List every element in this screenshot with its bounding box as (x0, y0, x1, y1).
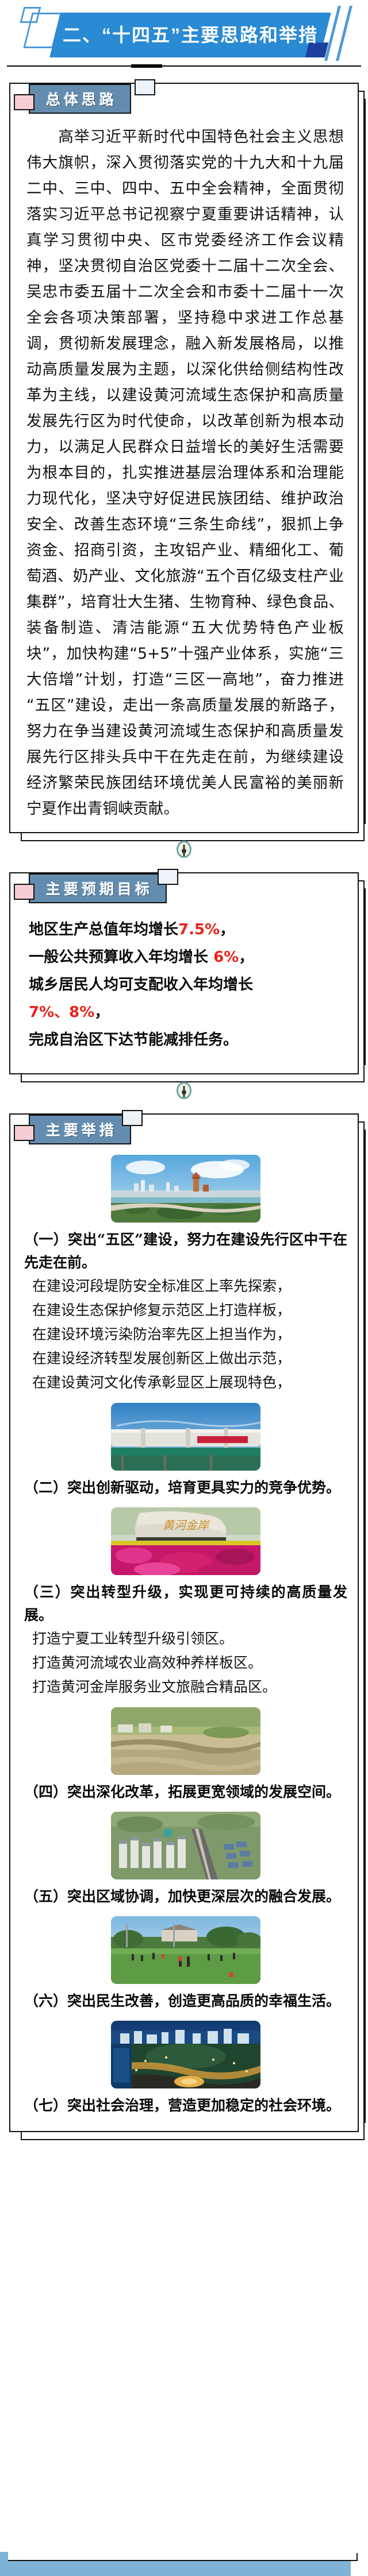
measure-photo-rural-farmland-village (111, 1707, 260, 1775)
measure-sub-line: 在建设经济转型发展创新区上做出示范， (24, 1347, 347, 1371)
target-line: 完成自治区下达节能减排任务。 (29, 1026, 345, 1054)
target-value: 7.5% (178, 921, 220, 938)
section-tag-label: 总体思路 (46, 88, 117, 109)
measure-sub-line: 打造黄河流域农业高效种养样板区。 (24, 1651, 347, 1675)
section-tag-main-measures: 主要举措 (9, 1113, 359, 1147)
footer-divider-vertical (356, 2553, 358, 2561)
target-text: 地区生产总值年均增长 (29, 921, 178, 938)
target-value: 7%、8% (29, 1004, 94, 1021)
measure-sub-line: 在建设生态保护修复示范区上打造样板， (24, 1298, 347, 1322)
overall-approach-text: 高举习近平新时代中国特色社会主义思想伟大旗帜，深入贯彻落实党的十九大和十九届二中… (26, 128, 344, 818)
page-title-text: 二、“十四五”主要思路和举措 (63, 15, 318, 55)
target-text: 完成自治区下达节能减排任务。 (29, 1031, 238, 1049)
section-tag-overall-approach: 总体思路 (9, 83, 359, 116)
measure-heading: （五）突出区域协调，加快更深层次的融合发展。 (24, 1885, 347, 1908)
measure-photo-huanghe-jinan-flower-field: 黄河金岸 (111, 1507, 260, 1575)
target-punct: ， (220, 921, 235, 938)
measure-list: （一）突出“五区”建设，努力在建设先行区中干在先走在前。 在建设河段堤防安全标准… (9, 1155, 359, 2117)
measure-sub-line: 在建设河段堤防安全标准区上率先探索， (24, 1274, 347, 1298)
pin-icon (177, 841, 191, 858)
section-card-overall-approach: 总体思路 高举习近平新时代中国特色社会主义思想伟大旗帜，深入贯彻落实党的十九大和… (9, 83, 359, 833)
page-banner: 二、“十四五”主要思路和举措 (0, 0, 368, 68)
card-side-rail (365, 888, 366, 1065)
measure-sub-line: 打造黄河金岸服务业文旅融合精品区。 (24, 1675, 347, 1699)
tag-pink-square (14, 884, 34, 900)
section-connector-2 (0, 1074, 368, 1107)
measure-heading: （一）突出“五区”建设，努力在建设先行区中干在先走在前。 (24, 1228, 347, 1274)
measure-sub-line: 在建设黄河文化传承彰显区上展现特色， (24, 1371, 347, 1395)
target-line: 地区生产总值年均增长7.5%， (29, 916, 345, 943)
target-line: 一般公共预算收入年均增长 6%， (29, 943, 345, 971)
tag-white-square (158, 869, 178, 885)
measure-heading: （六）突出民生改善，创造更高品质的幸福生活。 (24, 1990, 347, 2013)
measure-photo-city-night-plaza (111, 2021, 260, 2088)
tag-pink-square (14, 1125, 34, 1141)
banner-divider (7, 65, 361, 67)
banner-divider-accent (131, 64, 162, 68)
section-card-main-measures: 主要举措 (9, 1113, 359, 2132)
footer-divider (8, 2560, 356, 2561)
measure-photo-industrial-pipeline-plant (111, 1403, 260, 1471)
measure-heading: （二）突出创新驱动，培育更具实力的竞争优势。 (24, 1476, 347, 1499)
section-card-main-targets: 主要预期目标 地区生产总值年均增长7.5%， 一般公共预算收入年均增长 6%， … (9, 872, 359, 1074)
main-targets-list: 地区生产总值年均增长7.5%， 一般公共预算收入年均增长 6%， 城乡居民人均可… (9, 906, 359, 1066)
measure-sub-line: 在建设环境污染防治率先区上担当作为， (24, 1322, 347, 1347)
pin-icon (177, 1082, 191, 1099)
target-text: 一般公共预算收入年均增长 (29, 949, 213, 966)
measure-heading: （七）突出社会治理，营造更加稳定的社会环境。 (24, 2094, 347, 2117)
target-punct: ， (239, 949, 254, 966)
svg-text:黄河金岸: 黄河金岸 (163, 1518, 210, 1532)
footer-blue-band (0, 2561, 351, 2576)
target-line: 7%、8%， (29, 999, 345, 1026)
measure-photo-park-lawn-people (111, 1916, 260, 1984)
tag-blue-plate: 主要举措 (29, 1115, 131, 1144)
tag-pink-square (14, 94, 34, 110)
section-tag-main-targets: 主要预期目标 (9, 872, 359, 906)
overall-approach-body: 高举习近平新时代中国特色社会主义思想伟大旗帜，深入贯彻落实党的十九大和十九届二中… (9, 116, 359, 833)
measure-photo-qingtongxia-city-skyline (111, 1155, 260, 1223)
page-footer (0, 2545, 368, 2576)
card-side-rail (365, 99, 366, 824)
tag-white-square (122, 1110, 143, 1126)
tag-blue-plate: 主要预期目标 (29, 873, 167, 903)
target-punct: ， (94, 1004, 109, 1021)
section-tag-label: 主要举措 (46, 1119, 117, 1140)
measure-heading: （三）突出转型升级，实现更可持续的高质量发展。 (24, 1581, 347, 1627)
target-text: 城乡居民人均可支配收入年均增长 (29, 976, 253, 993)
card-side-rail (365, 1130, 366, 2123)
page-title: 二、“十四五”主要思路和举措 (50, 15, 330, 55)
tag-blue-plate: 总体思路 (29, 84, 131, 114)
measure-sub-line: 打造宁夏工业转型升级引领区。 (24, 1627, 347, 1651)
section-connector-1 (0, 833, 368, 865)
tag-white-square (135, 79, 155, 95)
target-line: 城乡居民人均可支配收入年均增长 (29, 971, 345, 999)
section-tag-label: 主要预期目标 (46, 878, 153, 899)
target-value: 6% (213, 949, 239, 966)
measure-heading: （四）突出深化改革，拓展更宽领域的发展空间。 (24, 1781, 347, 1804)
measure-photo-urban-residential-aerial (111, 1812, 260, 1879)
